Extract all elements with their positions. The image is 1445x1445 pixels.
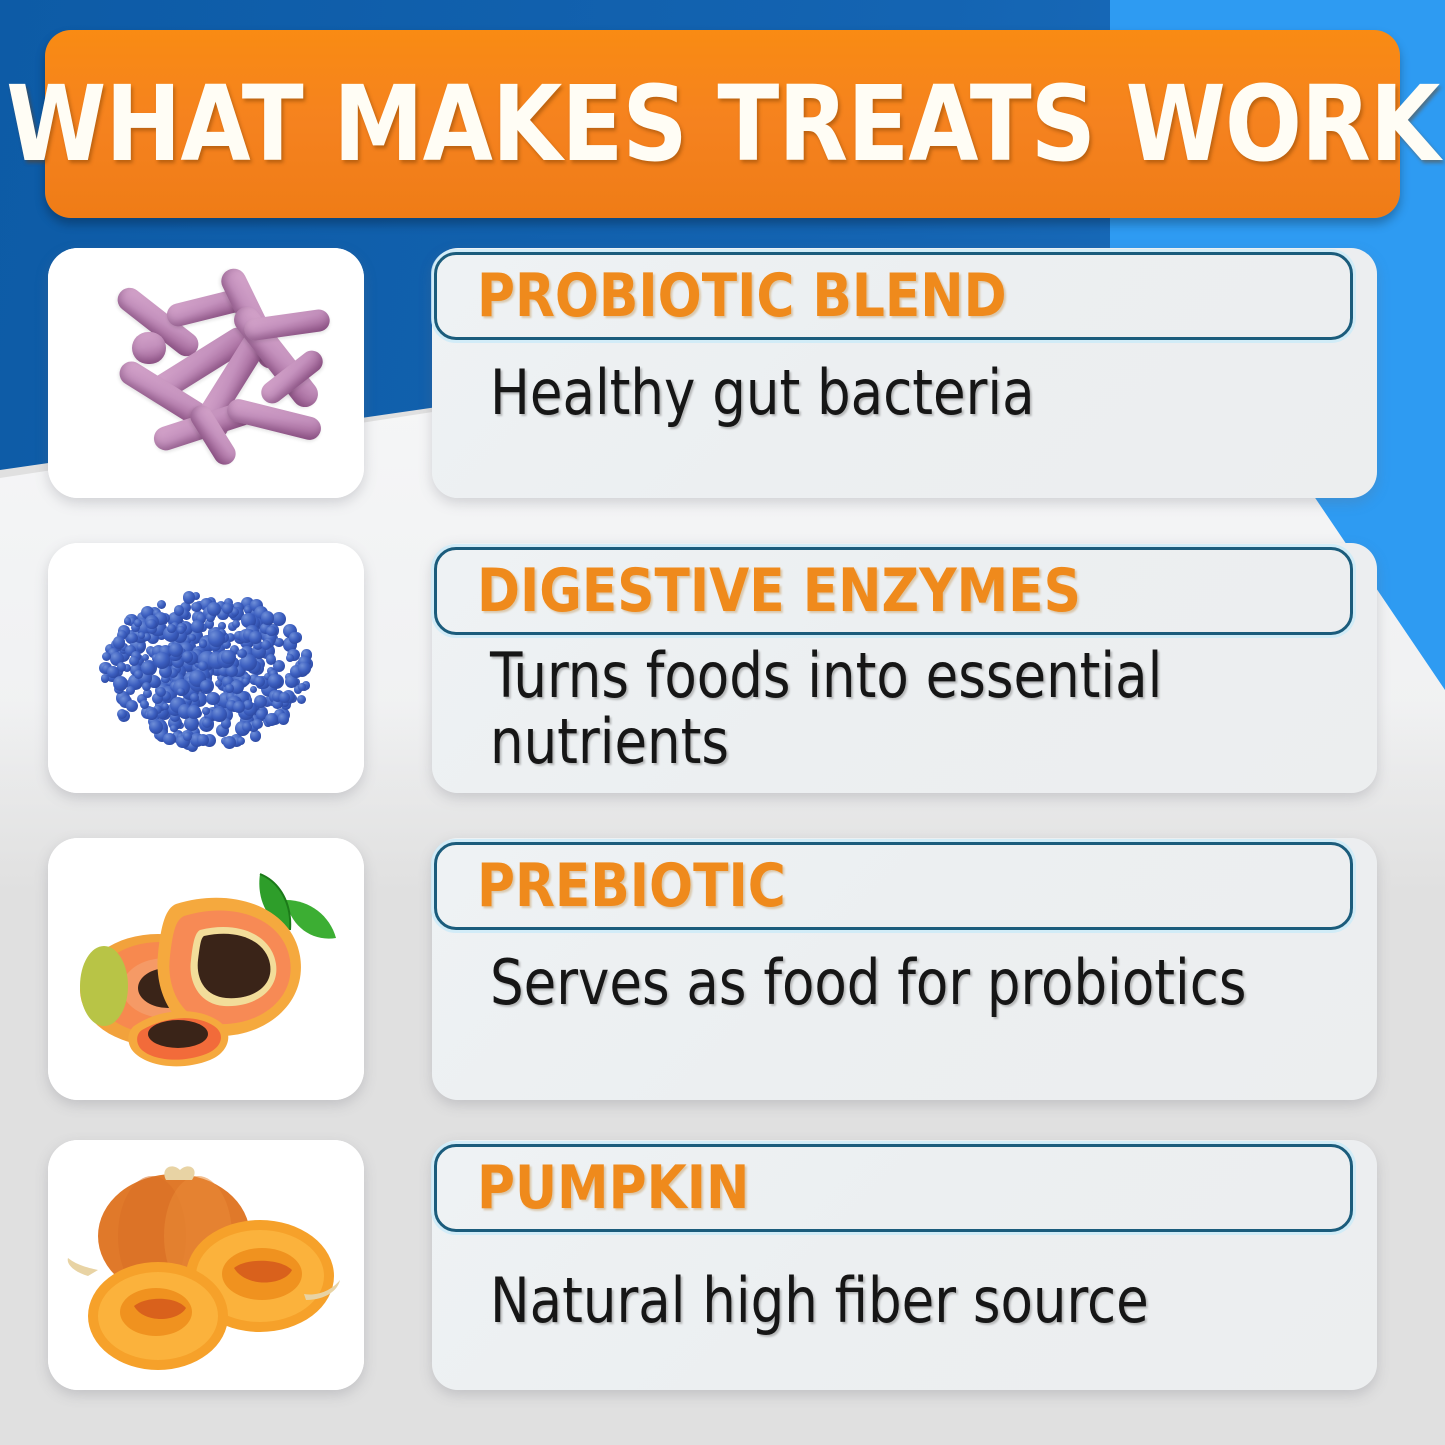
feature-row-enzymes: DIGESTIVE ENZYMES Turns foods into essen… xyxy=(0,543,1445,793)
pumpkin-image xyxy=(48,1140,364,1390)
feature-card-enzymes: DIGESTIVE ENZYMES Turns foods into essen… xyxy=(432,543,1377,793)
feature-description: Turns foods into essential nutrients xyxy=(490,643,1308,774)
feature-title: DIGESTIVE ENZYMES xyxy=(477,561,1081,621)
feature-title: PUMPKIN xyxy=(477,1158,749,1218)
feature-description: Serves as food for probiotics xyxy=(490,950,1308,1016)
infographic-poster: WHAT MAKES TREATS WORK PROBIO xyxy=(0,0,1445,1445)
feature-card-prebiotic: PREBIOTIC Serves as food for probiotics xyxy=(432,838,1377,1100)
feature-title-box: PUMPKIN xyxy=(434,1144,1353,1232)
feature-title-box: PREBIOTIC xyxy=(434,842,1353,930)
feature-card-pumpkin: PUMPKIN Natural high fiber source xyxy=(432,1140,1377,1390)
feature-row-prebiotic: PREBIOTIC Serves as food for probiotics xyxy=(0,838,1445,1100)
pumpkin-svg xyxy=(48,1140,364,1390)
probiotic-bacteria-image xyxy=(48,248,364,498)
feature-title: PROBIOTIC BLEND xyxy=(477,266,1007,326)
prebiotic-papaya-image xyxy=(48,838,364,1100)
feature-card-probiotic: PROBIOTIC BLEND Healthy gut bacteria xyxy=(432,248,1377,498)
enzyme-illustration xyxy=(48,543,364,793)
feature-title-box: PROBIOTIC BLEND xyxy=(434,252,1353,340)
feature-title-box: DIGESTIVE ENZYMES xyxy=(434,547,1353,635)
feature-description: Natural high fiber source xyxy=(490,1268,1308,1334)
bacteria-illustration xyxy=(48,248,364,498)
feature-row-pumpkin: PUMPKIN Natural high fiber source xyxy=(0,1140,1445,1390)
feature-description: Healthy gut bacteria xyxy=(490,360,1308,426)
papaya-svg xyxy=(48,838,364,1100)
feature-row-probiotic: PROBIOTIC BLEND Healthy gut bacteria xyxy=(0,248,1445,498)
papaya-illustration xyxy=(48,838,364,1100)
digestive-enzymes-image xyxy=(48,543,364,793)
header-banner: WHAT MAKES TREATS WORK xyxy=(45,30,1400,218)
page-title: WHAT MAKES TREATS WORK xyxy=(6,72,1439,176)
feature-title: PREBIOTIC xyxy=(477,856,786,916)
pumpkin-illustration xyxy=(48,1140,364,1390)
